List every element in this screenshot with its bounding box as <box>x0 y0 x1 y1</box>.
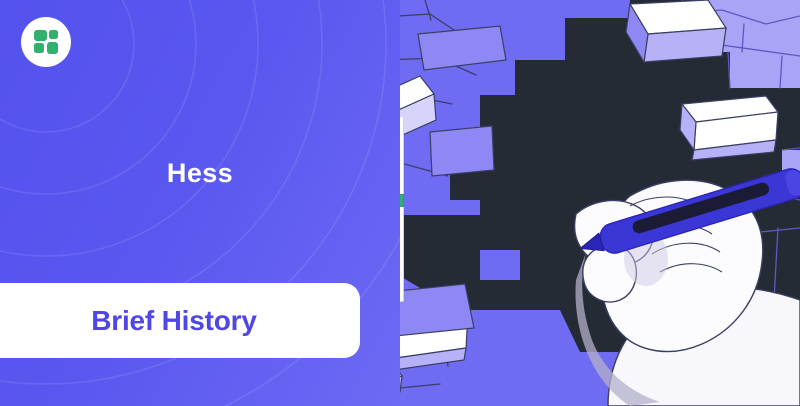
loose-brick-top-right <box>626 0 726 62</box>
logo-tile-top-left <box>34 30 47 41</box>
brand-logo[interactable] <box>21 17 71 67</box>
loose-brick-right-mid <box>680 96 778 160</box>
logo-tile-bottom-left <box>34 43 44 53</box>
title-card: Brief History <box>0 283 360 358</box>
wall-slab-mid <box>430 126 494 176</box>
brand-name: Hess <box>0 158 400 189</box>
left-content-panel: Hess Brief History <box>0 0 400 406</box>
grid-squares-logo-icon <box>34 30 58 54</box>
logo-tile-bottom-right <box>47 42 59 55</box>
logo-tile-top-right <box>49 30 58 39</box>
brief-history-banner: History Year 1 Year 2 Year 3 Year 4 Year… <box>0 0 800 406</box>
page-title: Brief History <box>63 305 256 337</box>
